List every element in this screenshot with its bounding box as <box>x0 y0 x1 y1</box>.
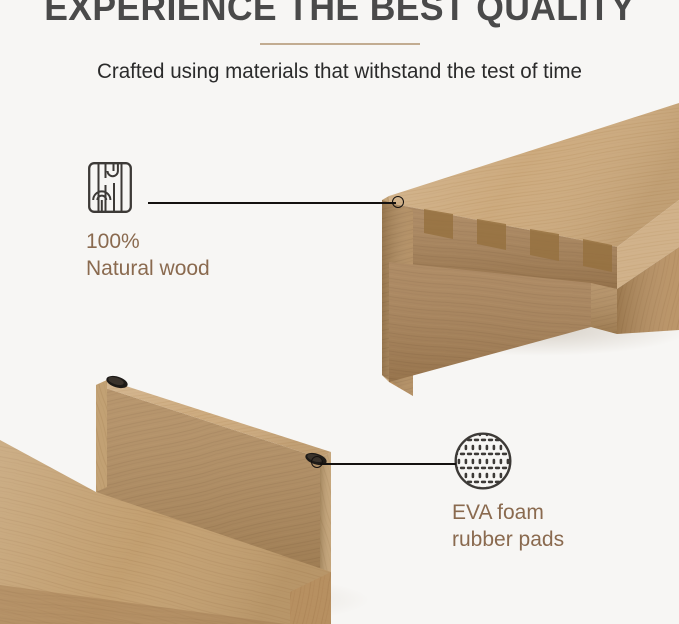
woven-foam-icon <box>452 430 514 492</box>
leader-marker-wood <box>392 196 404 208</box>
page-title: EXPERIENCE THE BEST QUALITY <box>14 0 666 30</box>
callout-eva-foam: EVA foam rubber pads <box>452 499 564 553</box>
callout-wood-line2: Natural wood <box>86 255 210 282</box>
infographic-canvas: EXPERIENCE THE BEST QUALITY Crafted usin… <box>0 0 679 624</box>
leader-line-foam <box>320 463 456 465</box>
callout-foam-line2: rubber pads <box>452 526 564 553</box>
callout-foam-line1: EVA foam <box>452 499 564 526</box>
leader-marker-foam <box>311 456 323 468</box>
title-divider <box>260 43 420 45</box>
upper-shelf <box>382 103 679 396</box>
callout-natural-wood: 100% Natural wood <box>86 228 210 282</box>
callout-wood-line1: 100% <box>86 228 210 255</box>
product-illustration <box>0 0 679 624</box>
wood-plank-icon <box>87 161 133 214</box>
page-subtitle: Crafted using materials that withstand t… <box>7 58 672 86</box>
lower-shelf <box>0 380 370 624</box>
leader-line-wood <box>148 202 396 204</box>
